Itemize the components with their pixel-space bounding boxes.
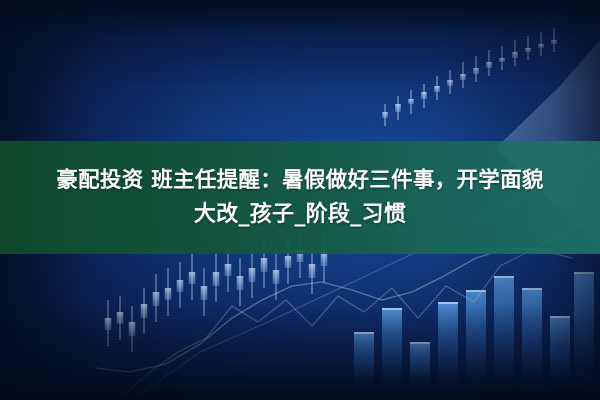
headline-line-1: 豪配投资 班主任提醒：暑假做好三件事，开学面貌 bbox=[56, 164, 543, 198]
headline-banner: 豪配投资 班主任提醒：暑假做好三件事，开学面貌 大改_孩子_阶段_习惯 bbox=[0, 141, 600, 254]
banner-image: 豪配投资 班主任提醒：暑假做好三件事，开学面貌 大改_孩子_阶段_习惯 bbox=[0, 0, 600, 400]
headline-line-2: 大改_孩子_阶段_习惯 bbox=[194, 198, 406, 232]
